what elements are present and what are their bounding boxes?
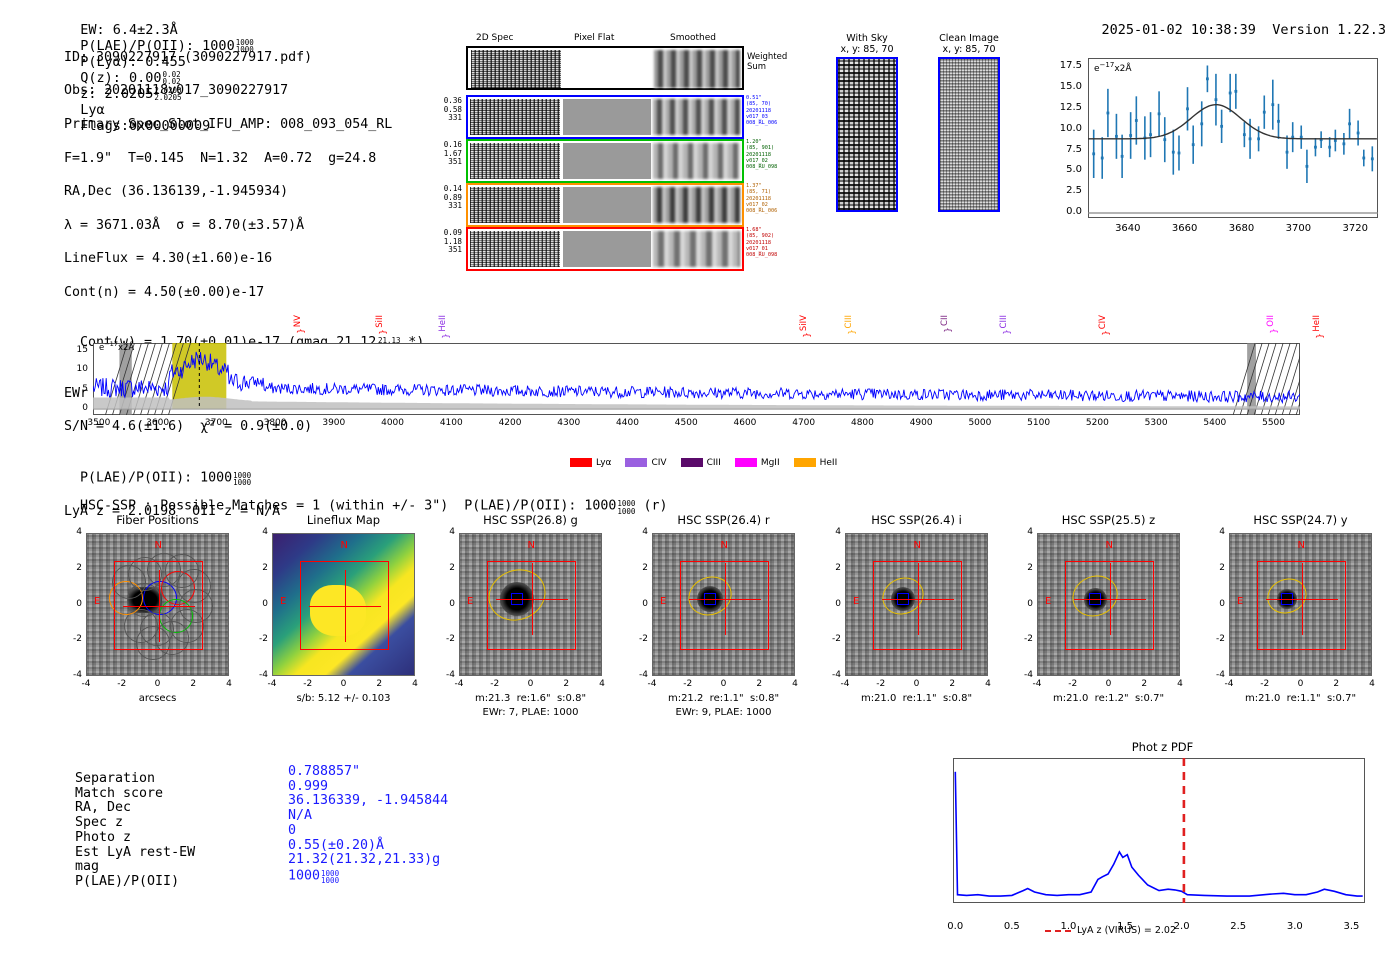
phot-z-x-tick: 2.5 bbox=[1222, 921, 1254, 932]
match-value-text: 0.788857" bbox=[288, 764, 360, 779]
with-sky-panel: With Sky x, y: 85, 70 bbox=[824, 33, 910, 212]
emission-line-siiv-3: SiIV{ bbox=[799, 315, 813, 340]
elf-unit-label: e−17x2Å bbox=[1094, 61, 1132, 74]
cutout-y-tick: 4 bbox=[1013, 527, 1033, 537]
cutout-title: HSC SSP(26.4) i bbox=[845, 513, 988, 527]
emission-line-brace: { bbox=[1268, 324, 1278, 338]
cutout-y-tick: 0 bbox=[1205, 599, 1225, 609]
cutout-y-tick: -2 bbox=[628, 634, 648, 644]
cutout-y-tick: 2 bbox=[435, 563, 455, 573]
clean-image-image bbox=[938, 57, 1000, 212]
weighted-sum-panel bbox=[466, 46, 744, 90]
elf-y-tick: 10.0 bbox=[1036, 123, 1082, 134]
fiber-row-1-2dspec bbox=[470, 143, 560, 179]
cutout-caption: m:21.0 re:1.2" s:0.7" bbox=[1023, 693, 1194, 704]
elf-x-tick: 3640 bbox=[1110, 223, 1146, 234]
header-version: Version 1.22.3 bbox=[1272, 22, 1386, 38]
fiber-row-3 bbox=[466, 227, 744, 271]
weighted-sum-label: Weighted Sum bbox=[747, 52, 787, 72]
phot-z-legend-dash bbox=[1045, 930, 1071, 932]
cutout-image: NE bbox=[652, 533, 795, 676]
spectrum-y-tick: 10 bbox=[68, 364, 88, 374]
info-lambda-sigma: λ = 3671.03Å σ = 8.70(±3.57)Å bbox=[64, 218, 424, 235]
header-datetime: 2025-01-02 10:38:39 bbox=[1102, 22, 1256, 38]
phot-z-pdf-panel: Phot z PDF 0.00.51.01.52.02.53.03.5 LyA … bbox=[935, 740, 1390, 945]
cutout-x-tick: -2 bbox=[294, 679, 322, 689]
cutout-x-tick: 2 bbox=[365, 679, 393, 689]
crosshair-horizontal bbox=[1074, 599, 1146, 600]
with-sky-title: With Sky bbox=[824, 33, 910, 44]
cutout-x-tick: 4 bbox=[588, 679, 616, 689]
spectrum-x-tick: 5500 bbox=[1252, 418, 1296, 428]
compass-east: E bbox=[467, 596, 473, 607]
phot-z-x-tick: 3.0 bbox=[1279, 921, 1311, 932]
cutout-x-tick: -4 bbox=[1023, 679, 1051, 689]
spectrum-y-tick: 0 bbox=[68, 403, 88, 413]
fiber-row-3-left-label: 0.09 1.18 351 bbox=[428, 229, 462, 255]
emission-line-civ-7: CIV{ bbox=[1098, 315, 1112, 338]
match-table-label-5: Est LyA rest-EW bbox=[75, 846, 195, 861]
emission-line-brace: { bbox=[801, 328, 811, 342]
fiber-row-1 bbox=[466, 139, 744, 183]
spectrum-x-tick: 4000 bbox=[371, 418, 415, 428]
match-table-value-2: 36.136339, -1.945844 bbox=[288, 794, 448, 809]
cutout-y-tick: -2 bbox=[1205, 634, 1225, 644]
compass-north: N bbox=[914, 540, 921, 551]
compass-north: N bbox=[155, 540, 162, 551]
spectrum-x-tick: 5200 bbox=[1075, 418, 1119, 428]
cutout-x-tick: 0 bbox=[330, 679, 358, 689]
cutout-x-tick: 2 bbox=[552, 679, 580, 689]
weighted-sum-2dspec bbox=[471, 50, 561, 88]
match-value-text: 0.55(±0.20)Å bbox=[288, 838, 384, 853]
emission-line-oii-8: OII{ bbox=[1266, 315, 1280, 336]
emission-line-heii-2: HeII{ bbox=[438, 315, 452, 341]
spectrum-x-tick: 5000 bbox=[958, 418, 1002, 428]
compass-north: N bbox=[721, 540, 728, 551]
cutout-x-tick: 2 bbox=[745, 679, 773, 689]
elf-x-tick: 3660 bbox=[1167, 223, 1203, 234]
cutout-hsc-i: HSC SSP(26.4) iNE420-2-4-4-2024m:21.0 re… bbox=[821, 513, 992, 527]
match-table-labels: SeparationMatch scoreRA, DecSpec zPhoto … bbox=[75, 772, 195, 890]
cutout-y-tick: 4 bbox=[1205, 527, 1225, 537]
cutout-x-tick: -2 bbox=[108, 679, 136, 689]
crosshair-horizontal bbox=[309, 606, 381, 607]
cutout-y-tick: 4 bbox=[435, 527, 455, 537]
spectrum-y-tick: 5 bbox=[68, 384, 88, 394]
cutout-y-tick: 2 bbox=[821, 563, 841, 573]
cutout-x-tick: 4 bbox=[401, 679, 429, 689]
cutout-x-tick: 2 bbox=[179, 679, 207, 689]
compass-east: E bbox=[94, 596, 100, 607]
emission-line-brace: { bbox=[295, 324, 305, 338]
cutout-y-tick: -2 bbox=[435, 634, 455, 644]
crosshair-horizontal bbox=[882, 599, 954, 600]
cutout-caption: m:21.3 re:1.6" s:0.8" bbox=[445, 693, 616, 704]
crosshair-horizontal bbox=[1266, 599, 1338, 600]
match-table-value-1: 0.999 bbox=[288, 780, 448, 795]
emission-line-siii-1: SiII{ bbox=[375, 315, 389, 337]
cutout-y-tick: -2 bbox=[821, 634, 841, 644]
cutout-y-tick: 0 bbox=[62, 599, 82, 609]
fiber-row-2-left-label: 0.14 0.89 331 bbox=[428, 185, 462, 211]
with-sky-subtitle: x, y: 85, 70 bbox=[824, 44, 910, 55]
spectrum-x-tick: 5300 bbox=[1134, 418, 1178, 428]
compass-east: E bbox=[1237, 596, 1243, 607]
cutout-hsc-g: HSC SSP(26.8) gNE420-2-4-4-2024m:21.3 re… bbox=[435, 513, 606, 527]
legend-swatch bbox=[735, 458, 757, 467]
cutout-xlabel: arcsecs bbox=[86, 693, 229, 704]
compass-east: E bbox=[280, 596, 286, 607]
crosshair-horizontal bbox=[689, 599, 761, 600]
cutout-caption-2: EWr: 7, PLAE: 1000 bbox=[445, 707, 616, 718]
cutout-x-tick: 4 bbox=[1166, 679, 1194, 689]
phot-z-x-tick: 0.0 bbox=[939, 921, 971, 932]
match-table-value-7: 100010001000 bbox=[288, 868, 448, 884]
info-primary-spec: Primary Spec_Slot_IFU_AMP: 008_093_054_R… bbox=[64, 117, 424, 134]
spectrum-y-tick: 15 bbox=[68, 345, 88, 355]
cutout-fiber-positions: Fiber PositionsNE420-2-4-4-2024arcsecs bbox=[62, 513, 233, 527]
fiber-row-0-left-label: 0.36 0.58 331 bbox=[428, 97, 462, 123]
legend-swatch bbox=[794, 458, 816, 467]
cutout-y-tick: 0 bbox=[435, 599, 455, 609]
legend-swatch bbox=[681, 458, 703, 467]
cutout-hsc-y: HSC SSP(24.7) yNE420-2-4-4-2024m:21.0 re… bbox=[1205, 513, 1376, 527]
cutout-x-tick: 0 bbox=[903, 679, 931, 689]
emission-line-brace: { bbox=[1314, 329, 1324, 343]
compass-north: N bbox=[1106, 540, 1113, 551]
match-table-label-3: Spec z bbox=[75, 816, 195, 831]
cutout-title: HSC SSP(26.4) r bbox=[652, 513, 795, 527]
compass-north: N bbox=[1298, 540, 1305, 551]
match-table-value-4: 0 bbox=[288, 824, 448, 839]
elf-x-tick: 3680 bbox=[1224, 223, 1260, 234]
cutout-x-tick: 2 bbox=[1130, 679, 1158, 689]
spectrum-x-tick: 5100 bbox=[1017, 418, 1061, 428]
cutout-image: NE bbox=[86, 533, 229, 676]
cutout-y-tick: 0 bbox=[821, 599, 841, 609]
elf-canvas bbox=[1088, 58, 1378, 218]
spectrum-x-tick: 3900 bbox=[312, 418, 356, 428]
spectrum-x-tick: 4400 bbox=[605, 418, 649, 428]
match-table-label-6: mag bbox=[75, 860, 195, 875]
weighted-sum-pixelflat bbox=[564, 50, 652, 88]
emission-line-brace: { bbox=[1001, 325, 1011, 339]
cutout-title: Fiber Positions bbox=[86, 513, 229, 527]
match-table-value-5: 0.55(±0.20)Å bbox=[288, 839, 448, 854]
elf-y-tick: 5.0 bbox=[1036, 164, 1082, 175]
elf-y-tick: 7.5 bbox=[1036, 144, 1082, 155]
crosshair-horizontal bbox=[123, 606, 195, 607]
match-plae-frac: 10001000 bbox=[321, 870, 339, 885]
fiber-row-0-2dspec bbox=[470, 99, 560, 135]
phot-z-legend-label: LyA z (VIRUS) = 2.02 bbox=[1077, 925, 1176, 936]
legend-swatch bbox=[570, 458, 592, 467]
fiber-row-1-smoothed bbox=[653, 143, 740, 179]
hsc-header-text: HSC-SSP : Possible Matches = 1 (within +… bbox=[80, 499, 616, 514]
cutout-x-tick: 0 bbox=[710, 679, 738, 689]
emission-line-fit-plot: e−17x2Å 0.02.55.07.510.012.515.017.5 364… bbox=[1036, 55, 1386, 270]
cutout-caption: m:21.0 re:1.1" s:0.8" bbox=[831, 693, 1002, 704]
cutout-y-tick: -2 bbox=[62, 634, 82, 644]
hsc-header-suffix: (r) bbox=[643, 499, 667, 514]
emission-line-brace: { bbox=[942, 323, 952, 337]
emission-line-ciii-6: CIII{ bbox=[999, 315, 1013, 337]
cutout-y-tick: 4 bbox=[821, 527, 841, 537]
clean-image-panel: Clean Image x, y: 85, 70 bbox=[926, 33, 1012, 212]
spec2d-section: 2D Spec Pixel Flat Smoothed Weighted Sum… bbox=[430, 33, 820, 263]
legend-label: MgII bbox=[761, 458, 780, 468]
spectrum-x-tick: 3700 bbox=[194, 418, 238, 428]
spectrum-x-tick: 4500 bbox=[664, 418, 708, 428]
spectrum-x-tick: 4700 bbox=[782, 418, 826, 428]
phot-z-canvas bbox=[953, 758, 1365, 903]
crosshair-horizontal bbox=[496, 599, 568, 600]
fiber-row-2-pixelflat bbox=[563, 187, 651, 223]
info-lineflux: LineFlux = 4.30(±1.60)e-16 bbox=[64, 251, 424, 268]
cutout-x-tick: -4 bbox=[72, 679, 100, 689]
match-value-text: 1000 bbox=[288, 868, 320, 883]
match-table-label-7: P(LAE)/P(OII) bbox=[75, 875, 195, 890]
info-id: ID: 3090227917 (3090227917.pdf) bbox=[64, 50, 424, 67]
cutout-y-tick: 0 bbox=[628, 599, 648, 609]
cutout-caption: m:21.2 re:1.1" s:0.8" bbox=[638, 693, 809, 704]
cutout-y-tick: 0 bbox=[248, 599, 268, 609]
cutout-panel-row: Fiber PositionsNE420-2-4-4-2024arcsecsLi… bbox=[0, 513, 1400, 728]
legend-label: Lyα bbox=[596, 458, 611, 468]
spectrum-x-tick: 3500 bbox=[77, 418, 121, 428]
cutout-x-tick: 4 bbox=[781, 679, 809, 689]
cutout-y-tick: 2 bbox=[1205, 563, 1225, 573]
match-table-label-1: Match score bbox=[75, 787, 195, 802]
phot-z-x-tick: 3.5 bbox=[1335, 921, 1367, 932]
spectrum-x-tick: 4800 bbox=[840, 418, 884, 428]
spectrum-x-tick: 3600 bbox=[136, 418, 180, 428]
info-radec: RA,Dec (36.136139,-1.945934) bbox=[64, 184, 424, 201]
cutout-image: NE bbox=[1037, 533, 1180, 676]
full-spectrum-unit-label: e−17x2Å bbox=[99, 340, 134, 353]
cutout-x-tick: -2 bbox=[1059, 679, 1087, 689]
fiber-row-0-pixelflat bbox=[563, 99, 651, 135]
spectrum-x-tick: 4900 bbox=[899, 418, 943, 428]
compass-north: N bbox=[341, 540, 348, 551]
fiber-row-2 bbox=[466, 183, 744, 227]
cutout-y-tick: 4 bbox=[628, 527, 648, 537]
cutout-y-tick: 2 bbox=[62, 563, 82, 573]
cutout-y-tick: 4 bbox=[62, 527, 82, 537]
cutout-y-tick: 2 bbox=[1013, 563, 1033, 573]
match-table-label-2: RA, Dec bbox=[75, 801, 195, 816]
spectrum-legend-lyα: Lyα bbox=[570, 458, 611, 468]
compass-north: N bbox=[528, 540, 535, 551]
emission-line-ciii-4: CIII{ bbox=[844, 315, 858, 337]
match-table-value-6: 21.32(21.32,21.33)g bbox=[288, 853, 448, 868]
cutout-caption: s/b: 5.12 +/- 0.103 bbox=[258, 693, 429, 704]
phot-z-legend: LyA z (VIRUS) = 2.02 bbox=[1045, 925, 1176, 936]
spectrum-x-tick: 4100 bbox=[429, 418, 473, 428]
fiber-row-3-2dspec bbox=[470, 231, 560, 267]
cutout-caption: m:21.0 re:1.1" s:0.7" bbox=[1215, 693, 1386, 704]
cutout-caption-2: EWr: 9, PLAE: 1000 bbox=[638, 707, 809, 718]
match-table-values: 0.788857"0.99936.136339, -1.945844N/A00.… bbox=[288, 765, 448, 884]
col-title-smoothed: Smoothed bbox=[670, 33, 716, 43]
fiber-row-2-2dspec bbox=[470, 187, 560, 223]
emission-line-nv-0: NV{ bbox=[293, 315, 307, 336]
cutout-image: NE bbox=[459, 533, 602, 676]
cutout-x-tick: -2 bbox=[867, 679, 895, 689]
fiber-row-1-right-label: 1.20" (85, 901) 20201118 v017_02 008_RU_… bbox=[746, 139, 777, 170]
emission-line-brace: { bbox=[846, 325, 856, 339]
full-spectrum-legend: LyαCIVCIIIMgIIHeII bbox=[570, 450, 851, 469]
fiber-row-0-smoothed bbox=[653, 99, 740, 135]
cutout-hsc-r: HSC SSP(26.4) rNE420-2-4-4-2024m:21.2 re… bbox=[628, 513, 799, 527]
match-value-text: 21.32(21.32,21.33)g bbox=[288, 852, 440, 867]
fiber-row-2-right-label: 1.37" (85, 71) 20201118 v017_02 008_RL_0… bbox=[746, 183, 777, 214]
cutout-x-tick: -4 bbox=[445, 679, 473, 689]
compass-east: E bbox=[853, 596, 859, 607]
cutout-x-tick: 0 bbox=[517, 679, 545, 689]
compass-east: E bbox=[1045, 596, 1051, 607]
cutout-title: HSC SSP(26.8) g bbox=[459, 513, 602, 527]
spectrum-x-tick: 5400 bbox=[1193, 418, 1237, 428]
cutout-x-tick: 0 bbox=[144, 679, 172, 689]
elf-y-tick: 17.5 bbox=[1036, 60, 1082, 71]
legend-label: CIV bbox=[651, 458, 666, 468]
spectrum-x-tick: 4200 bbox=[488, 418, 532, 428]
emission-line-heii-9: HeII{ bbox=[1312, 315, 1326, 341]
cutout-title: HSC SSP(24.7) y bbox=[1229, 513, 1372, 527]
cutout-x-tick: -4 bbox=[638, 679, 666, 689]
full-spectrum-section: NV{SiII{HeII{SiIV{CIII{CII{CIII{CIV{OII{… bbox=[0, 300, 1400, 480]
spectrum-x-tick: 4600 bbox=[723, 418, 767, 428]
match-table-label-4: Photo z bbox=[75, 831, 195, 846]
weighted-sum-smoothed bbox=[654, 50, 740, 88]
info-obs: Obs: 20201118v017_3090227917 bbox=[64, 83, 424, 100]
match-table-value-0: 0.788857" bbox=[288, 765, 448, 780]
legend-label: CIII bbox=[707, 458, 721, 468]
cutout-y-tick: 0 bbox=[1013, 599, 1033, 609]
fiber-row-3-right-label: 1.68" (85, 902) 20201118 v017_01 008_RU_… bbox=[746, 227, 777, 258]
match-table-label-0: Separation bbox=[75, 772, 195, 787]
cutout-y-tick: -2 bbox=[248, 634, 268, 644]
clean-image-title: Clean Image bbox=[926, 33, 1012, 44]
cutout-x-tick: 4 bbox=[215, 679, 243, 689]
cutout-x-tick: -2 bbox=[1251, 679, 1279, 689]
spectrum-legend-mgii: MgII bbox=[735, 458, 780, 468]
cutout-image: NE bbox=[272, 533, 415, 676]
fiber-row-3-smoothed bbox=[653, 231, 740, 267]
compass-east: E bbox=[660, 596, 666, 607]
cutout-x-tick: 4 bbox=[974, 679, 1002, 689]
cutout-x-tick: -4 bbox=[1215, 679, 1243, 689]
info-seeing-params: F=1.9" T=0.145 N=1.32 A=0.72 g=24.8 bbox=[64, 151, 424, 168]
with-sky-image bbox=[836, 57, 898, 212]
fiber-row-0 bbox=[466, 95, 744, 139]
match-value-text: N/A bbox=[288, 808, 312, 823]
cutout-x-tick: 0 bbox=[1095, 679, 1123, 689]
fiber-row-0-right-label: 0.51" (85, 70) 20201118 v017_03 008_RL_0… bbox=[746, 95, 777, 126]
col-title-2dspec: 2D Spec bbox=[476, 33, 513, 43]
emission-line-brace: { bbox=[1100, 326, 1110, 340]
legend-swatch bbox=[625, 458, 647, 467]
elf-y-tick: 15.0 bbox=[1036, 81, 1082, 92]
cutout-x-tick: -4 bbox=[258, 679, 286, 689]
cutout-x-tick: 2 bbox=[938, 679, 966, 689]
full-spectrum-canvas bbox=[93, 343, 1300, 415]
match-value-text: 0 bbox=[288, 823, 296, 838]
cutout-lineflux-map: Lineflux MapNE420-2-4-4-2024s/b: 5.12 +/… bbox=[248, 513, 419, 527]
fiber-row-1-left-label: 0.16 1.67 351 bbox=[428, 141, 462, 167]
cutout-image: NE bbox=[1229, 533, 1372, 676]
fiber-row-2-smoothed bbox=[653, 187, 740, 223]
phot-z-x-tick: 0.5 bbox=[996, 921, 1028, 932]
cutout-x-tick: 0 bbox=[1287, 679, 1315, 689]
elf-x-tick: 3720 bbox=[1337, 223, 1373, 234]
match-table-value-3: N/A bbox=[288, 809, 448, 824]
elf-y-tick: 0.0 bbox=[1036, 206, 1082, 217]
spectrum-x-tick: 3800 bbox=[253, 418, 297, 428]
col-title-pixelflat: Pixel Flat bbox=[574, 33, 614, 43]
cutout-title: Lineflux Map bbox=[272, 513, 415, 527]
header-datetime-version: 2025-01-02 10:38:39 Version 1.22.3 bbox=[1085, 6, 1386, 38]
elf-y-tick: 2.5 bbox=[1036, 185, 1082, 196]
emission-line-brace: { bbox=[377, 325, 387, 339]
elf-y-tick: 12.5 bbox=[1036, 102, 1082, 113]
cutout-y-tick: -2 bbox=[1013, 634, 1033, 644]
emission-line-brace: { bbox=[440, 329, 450, 343]
match-value-text: 0.999 bbox=[288, 779, 328, 794]
cutout-image: NE bbox=[845, 533, 988, 676]
cutout-x-tick: -2 bbox=[481, 679, 509, 689]
spectrum-legend-heii: HeII bbox=[794, 458, 838, 468]
cutout-title: HSC SSP(25.5) z bbox=[1037, 513, 1180, 527]
spectrum-legend-ciii: CIII bbox=[681, 458, 721, 468]
spectrum-legend-civ: CIV bbox=[625, 458, 666, 468]
cutout-y-tick: 4 bbox=[248, 527, 268, 537]
fiber-row-3-pixelflat bbox=[563, 231, 651, 267]
cutout-x-tick: -2 bbox=[674, 679, 702, 689]
cutout-hsc-z: HSC SSP(25.5) zNE420-2-4-4-2024m:21.0 re… bbox=[1013, 513, 1184, 527]
spectrum-x-tick: 4300 bbox=[547, 418, 591, 428]
cutout-x-tick: -4 bbox=[831, 679, 859, 689]
cutout-y-tick: 2 bbox=[248, 563, 268, 573]
hsc-ssp-header: HSC-SSP : Possible Matches = 1 (within +… bbox=[64, 483, 668, 514]
legend-label: HeII bbox=[820, 458, 838, 468]
cutout-x-tick: 2 bbox=[1322, 679, 1350, 689]
phot-z-pdf-title: Phot z PDF bbox=[935, 740, 1390, 754]
cutout-x-tick: 4 bbox=[1358, 679, 1386, 689]
match-value-text: 36.136339, -1.945844 bbox=[288, 793, 448, 808]
clean-image-subtitle: x, y: 85, 70 bbox=[926, 44, 1012, 55]
fiber-row-1-pixelflat bbox=[563, 143, 651, 179]
cutout-y-tick: 2 bbox=[628, 563, 648, 573]
elf-x-tick: 3700 bbox=[1280, 223, 1316, 234]
emission-line-cii-5: CII{ bbox=[940, 315, 954, 335]
